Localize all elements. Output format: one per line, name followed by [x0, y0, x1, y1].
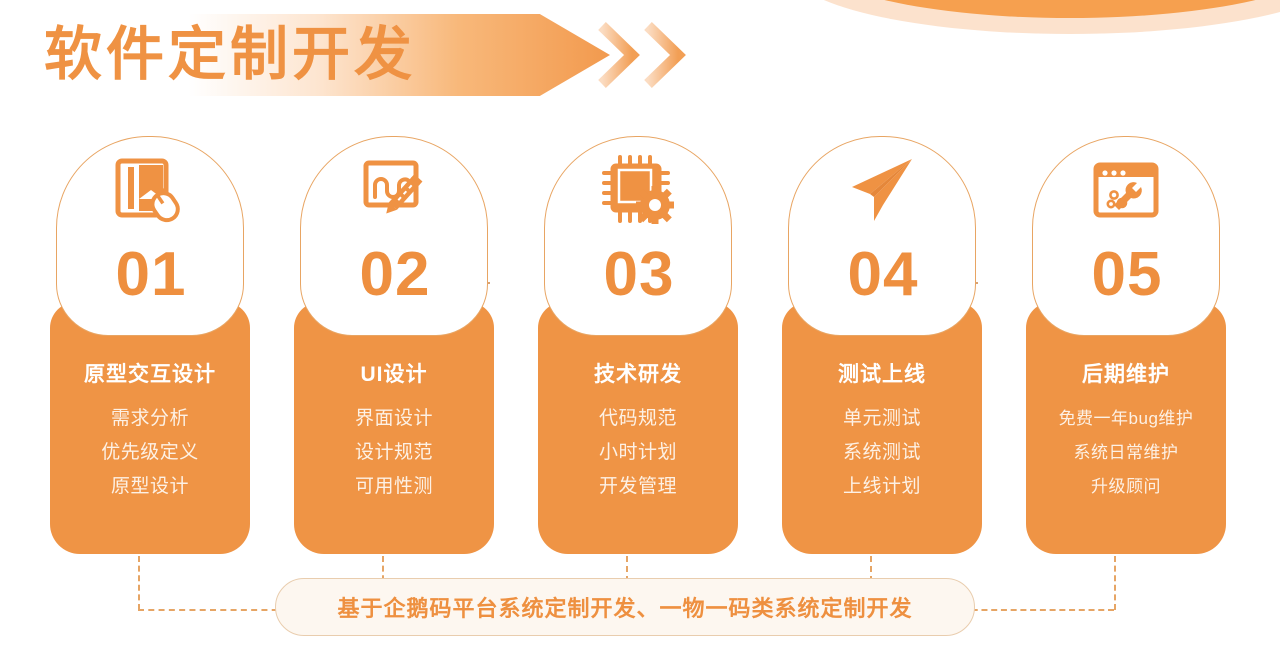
step-number: 05: [1033, 237, 1221, 313]
step-card-03[interactable]: 03 技术研发 代码规范 小时计划 开发管理: [538, 136, 738, 554]
dashed-drop-05: [1114, 556, 1116, 610]
step-item: 开发管理: [538, 470, 738, 504]
step-title: 后期维护: [1026, 358, 1226, 388]
step-card-head: 02: [300, 136, 488, 336]
step-item: 单元测试: [782, 402, 982, 436]
infographic-canvas: 软件定制开发: [0, 0, 1280, 650]
step-item: 代码规范: [538, 402, 738, 436]
page-title: 软件定制开发: [44, 16, 416, 94]
step-title: 测试上线: [782, 358, 982, 388]
step-title: 原型交互设计: [50, 358, 250, 388]
step-card-05[interactable]: 05 后期维护 免费一年bug维护 系统日常维护 升级顾问: [1026, 136, 1226, 554]
step-item: 上线计划: [782, 470, 982, 504]
step-item: 优先级定义: [50, 436, 250, 470]
step-card-01[interactable]: 01 原型交互设计 需求分析 优先级定义 原型设计: [50, 136, 250, 554]
step-item: 需求分析: [50, 402, 250, 436]
chip-gear-icon: [600, 153, 676, 229]
footer-banner[interactable]: 基于企鹅码平台系统定制开发、一物一码类系统定制开发: [275, 578, 975, 636]
paper-plane-icon: [844, 153, 920, 229]
step-number: 04: [789, 237, 977, 313]
step-card-head: 04: [788, 136, 976, 336]
step-item: 升级顾问: [1026, 470, 1226, 504]
browser-wrench-gears-icon: [1088, 153, 1164, 229]
step-item: 原型设计: [50, 470, 250, 504]
step-item: 小时计划: [538, 436, 738, 470]
step-item: 可用性测: [294, 470, 494, 504]
step-number: 03: [545, 237, 733, 313]
step-item-list: 单元测试 系统测试 上线计划: [782, 402, 982, 504]
step-item-list: 需求分析 优先级定义 原型设计: [50, 402, 250, 504]
book-with-mouse-icon: [112, 153, 188, 229]
step-title: UI设计: [294, 358, 494, 388]
dashed-rail-left: [138, 609, 288, 611]
drawing-board-pencil-icon: [356, 153, 432, 229]
step-item-list: 免费一年bug维护 系统日常维护 升级顾问: [1026, 402, 1226, 504]
step-card-02[interactable]: 02 UI设计 界面设计 设计规范 可用性测: [294, 136, 494, 554]
step-card-head: 05: [1032, 136, 1220, 336]
header: 软件定制开发: [0, 0, 760, 110]
double-chevron-right-icon: [596, 20, 686, 90]
step-item: 系统日常维护: [1026, 436, 1226, 470]
step-item-list: 代码规范 小时计划 开发管理: [538, 402, 738, 504]
step-card-head: 01: [56, 136, 244, 336]
dashed-rail-right: [962, 609, 1114, 611]
step-item: 系统测试: [782, 436, 982, 470]
step-item: 设计规范: [294, 436, 494, 470]
step-number: 01: [57, 237, 245, 313]
step-card-head: 03: [544, 136, 732, 336]
step-item-list: 界面设计 设计规范 可用性测: [294, 402, 494, 504]
step-item: 界面设计: [294, 402, 494, 436]
dashed-drop-01: [138, 556, 140, 610]
step-card-04[interactable]: 04 测试上线 单元测试 系统测试 上线计划: [782, 136, 982, 554]
step-title: 技术研发: [538, 358, 738, 388]
footer-banner-text: 基于企鹅码平台系统定制开发、一物一码类系统定制开发: [337, 591, 912, 623]
step-number: 02: [301, 237, 489, 313]
step-item: 免费一年bug维护: [1026, 402, 1226, 436]
process-steps: 01 原型交互设计 需求分析 优先级定义 原型设计: [0, 136, 1280, 554]
